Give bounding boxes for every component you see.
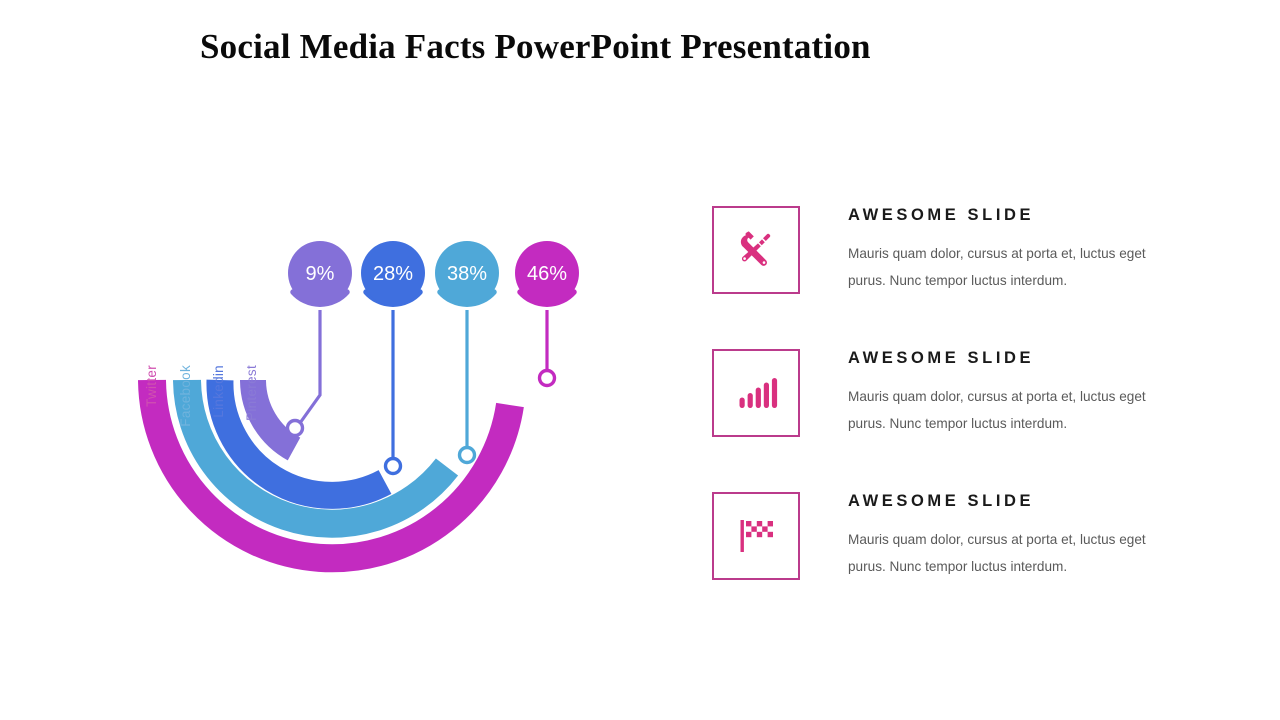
value-bubble-pinterest[interactable]: 9%: [288, 241, 352, 305]
checkered-flag-icon: [733, 513, 779, 559]
connector-twitter: [540, 310, 555, 386]
value-label-linkedin: 28%: [373, 263, 413, 285]
feature-text: AWESOME SLIDE Mauris quam dolor, cursus …: [848, 206, 1148, 294]
arc-segment-pinterest: [253, 380, 294, 449]
feature-body: Mauris quam dolor, cursus at porta et, l…: [848, 527, 1148, 580]
feature-row: AWESOME SLIDE Mauris quam dolor, cursus …: [712, 349, 1152, 492]
arc-label-twitter: Twitter: [144, 365, 159, 407]
feature-title: AWESOME SLIDE: [848, 349, 1148, 368]
value-label-facebook: 38%: [447, 263, 487, 285]
arc-label-facebook: Facebook: [178, 365, 193, 427]
page-title: Social Media Facts PowerPoint Presentati…: [200, 26, 1100, 68]
feature-icon-box[interactable]: [712, 206, 800, 294]
connector-linkedin: [386, 310, 401, 474]
feature-text: AWESOME SLIDE Mauris quam dolor, cursus …: [848, 349, 1148, 437]
connector-pinterest: [288, 310, 321, 436]
feature-list: AWESOME SLIDE Mauris quam dolor, cursus …: [712, 206, 1152, 635]
connector-facebook: [460, 310, 475, 463]
feature-body: Mauris quam dolor, cursus at porta et, l…: [848, 241, 1148, 294]
value-label-pinterest: 9%: [306, 263, 335, 285]
feature-row: AWESOME SLIDE Mauris quam dolor, cursus …: [712, 492, 1152, 635]
feature-row: AWESOME SLIDE Mauris quam dolor, cursus …: [712, 206, 1152, 349]
value-bubble-linkedin[interactable]: 28%: [361, 241, 425, 305]
arc-label-pinterest: Pinterest: [244, 365, 259, 421]
arc-label-linkedin: Linkedin: [211, 365, 226, 418]
value-bubble-twitter[interactable]: 46%: [515, 241, 579, 305]
feature-body: Mauris quam dolor, cursus at porta et, l…: [848, 384, 1148, 437]
feature-text: AWESOME SLIDE Mauris quam dolor, cursus …: [848, 492, 1148, 580]
feature-icon-box[interactable]: [712, 492, 800, 580]
value-label-twitter: 46%: [527, 263, 567, 285]
slide-canvas: Social Media Facts PowerPoint Presentati…: [0, 0, 1280, 720]
arc-chart: Twitter Facebook Linkedin Pinterest: [110, 215, 610, 585]
bar-chart-icon: [733, 370, 779, 416]
feature-icon-box[interactable]: [712, 349, 800, 437]
feature-title: AWESOME SLIDE: [848, 206, 1148, 225]
value-bubble-facebook[interactable]: 38%: [435, 241, 499, 305]
feature-title: AWESOME SLIDE: [848, 492, 1148, 511]
wrench-screwdriver-icon: [733, 227, 779, 273]
